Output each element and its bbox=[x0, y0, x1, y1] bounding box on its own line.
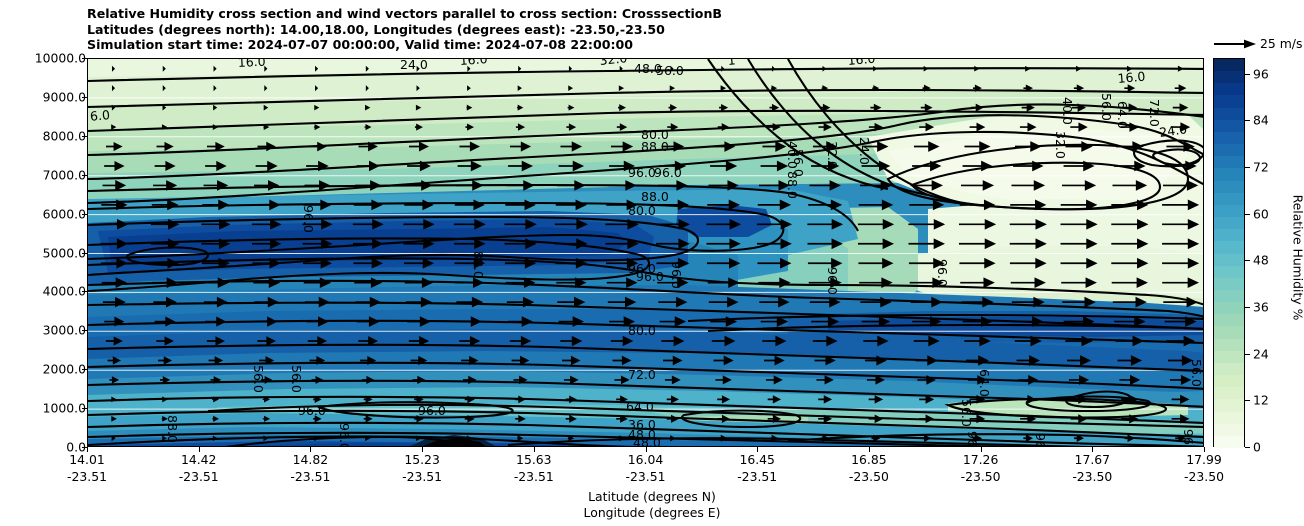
colorbar-band bbox=[1214, 436, 1244, 448]
y-axis-tick-mark bbox=[82, 408, 87, 409]
colorbar-band bbox=[1214, 144, 1244, 156]
colorbar-band bbox=[1214, 108, 1244, 120]
x-axis-tick-label-longitude: -23.51 bbox=[402, 469, 442, 484]
colorbar-tick-mark bbox=[1245, 400, 1250, 401]
colorbar-tick-mark bbox=[1245, 447, 1250, 448]
svg-text:56.0: 56.0 bbox=[1189, 359, 1204, 387]
colorbar-band bbox=[1214, 399, 1244, 411]
svg-text:96.0: 96.0 bbox=[337, 423, 352, 447]
colorbar-band bbox=[1214, 83, 1244, 95]
colorbar-band bbox=[1214, 181, 1244, 193]
svg-text:72.0: 72.0 bbox=[1147, 99, 1162, 127]
x-axis-tick-label-latitude: 17.26 bbox=[963, 452, 998, 467]
colorbar-band bbox=[1214, 229, 1244, 241]
x-axis-tick-label-longitude: -23.51 bbox=[737, 469, 777, 484]
y-axis-tick-label: 8000.0 bbox=[43, 128, 86, 143]
colorbar-band bbox=[1214, 71, 1244, 83]
svg-text:88.0: 88.0 bbox=[641, 189, 669, 204]
y-axis-tick-mark bbox=[82, 369, 87, 370]
colorbar-label: Relative Humidity % bbox=[1291, 128, 1304, 388]
colorbar-band bbox=[1214, 120, 1244, 132]
y-axis-tick-label: 4000.0 bbox=[43, 284, 86, 299]
colorbar-band bbox=[1214, 351, 1244, 363]
colorbar-tick-label: 84 bbox=[1253, 113, 1269, 128]
svg-text:80.0: 80.0 bbox=[628, 323, 656, 338]
colorbar-tick-label: 24 bbox=[1253, 346, 1269, 361]
x-axis-tick-label-latitude: 17.67 bbox=[1075, 452, 1110, 467]
chart-title-block: Relative Humidity cross section and wind… bbox=[87, 6, 1087, 53]
title-line-3: Simulation start time: 2024-07-07 00:00:… bbox=[87, 37, 1087, 53]
y-axis-tick-mark bbox=[82, 291, 87, 292]
colorbar-tick-label: 60 bbox=[1253, 206, 1269, 221]
x-axis-tick-label-longitude: -23.51 bbox=[514, 469, 554, 484]
x-axis-tick-label-longitude: -23.50 bbox=[849, 469, 889, 484]
title-line-1: Relative Humidity cross section and wind… bbox=[87, 6, 1087, 22]
y-axis-tick-label: 6000.0 bbox=[43, 206, 86, 221]
x-axis-tick-label-latitude: 16.04 bbox=[628, 452, 663, 467]
svg-text:96.0: 96.0 bbox=[418, 403, 446, 418]
colorbar-tick-mark bbox=[1245, 260, 1250, 261]
colorbar-tick-mark bbox=[1245, 214, 1250, 215]
colorbar-tick-label: 36 bbox=[1253, 299, 1269, 314]
svg-text:96.0: 96.0 bbox=[636, 269, 664, 284]
wind-key-arrow-icon bbox=[1213, 36, 1258, 52]
x-axis-tick-label-latitude: 14.01 bbox=[69, 452, 104, 467]
svg-text:96.0: 96.0 bbox=[298, 403, 326, 418]
colorbar-band bbox=[1214, 156, 1244, 168]
svg-text:56.0: 56.0 bbox=[289, 365, 304, 393]
x-axis-tick-label-latitude: 15.63 bbox=[516, 452, 551, 467]
y-axis-tick-mark bbox=[82, 58, 87, 59]
y-axis-tick-mark bbox=[82, 253, 87, 254]
colorbar-tick-label: 96 bbox=[1253, 66, 1269, 81]
x-axis-tick-label-latitude: 16.45 bbox=[739, 452, 774, 467]
colorbar-tick-mark bbox=[1245, 120, 1250, 121]
x-axis-tick-label-longitude: -23.51 bbox=[179, 469, 219, 484]
colorbar-tick-label: 48 bbox=[1253, 253, 1269, 268]
svg-text:40.0: 40.0 bbox=[1060, 97, 1075, 125]
x-axis-tick-label-latitude: 14.82 bbox=[293, 452, 328, 467]
colorbar-band bbox=[1214, 205, 1244, 217]
colorbar-band bbox=[1214, 266, 1244, 278]
svg-text:64.0: 64.0 bbox=[1115, 101, 1130, 129]
colorbar-band bbox=[1214, 95, 1244, 107]
colorbar-band bbox=[1214, 241, 1244, 253]
x-axis-tick-label-longitude: -23.51 bbox=[626, 469, 666, 484]
svg-text:96.0: 96.0 bbox=[1033, 433, 1048, 447]
title-line-2: Latitudes (degrees north): 14.00,18.00, … bbox=[87, 22, 1087, 38]
relative-humidity-field: 16.0 24.0 16.0 32.0 48.0 56.0 16.0 16.0 … bbox=[88, 59, 1204, 447]
y-axis-tick-mark bbox=[82, 330, 87, 331]
x-axis-label-longitude: Longitude (degrees E) bbox=[0, 505, 1304, 520]
svg-text:72.0: 72.0 bbox=[633, 445, 661, 447]
colorbar-band bbox=[1214, 59, 1244, 71]
colorbar-tick-mark bbox=[1245, 307, 1250, 308]
x-axis-tick-label-longitude: -23.51 bbox=[290, 469, 330, 484]
x-axis-tick-label-longitude: -23.50 bbox=[1072, 469, 1112, 484]
svg-text:96.0: 96.0 bbox=[301, 205, 316, 233]
colorbar-band bbox=[1214, 193, 1244, 205]
y-axis-tick-mark bbox=[82, 214, 87, 215]
y-axis-tick-mark bbox=[82, 97, 87, 98]
colorbar-tick-mark bbox=[1245, 167, 1250, 168]
svg-text:56.0: 56.0 bbox=[251, 365, 266, 393]
colorbar-band bbox=[1214, 424, 1244, 436]
colorbar-tick-label: 0 bbox=[1253, 440, 1261, 455]
y-axis-tick-label: 2000.0 bbox=[43, 362, 86, 377]
colorbar-band bbox=[1214, 254, 1244, 266]
svg-text:56.0: 56.0 bbox=[959, 399, 974, 427]
colorbar-band bbox=[1214, 302, 1244, 314]
svg-text:88.0: 88.0 bbox=[165, 415, 180, 443]
svg-text:24.0: 24.0 bbox=[400, 59, 428, 72]
colorbar-tick-mark bbox=[1245, 354, 1250, 355]
y-axis-tick-mark bbox=[82, 136, 87, 137]
y-axis-tick-mark bbox=[82, 175, 87, 176]
colorbar-tick-label: 72 bbox=[1253, 159, 1269, 174]
svg-text:56.0: 56.0 bbox=[1099, 93, 1114, 121]
y-axis-tick-label: 10000.0 bbox=[35, 51, 86, 66]
svg-text:32.0: 32.0 bbox=[1053, 131, 1068, 159]
x-axis-tick-label-latitude: 16.85 bbox=[851, 452, 886, 467]
colorbar-band bbox=[1214, 412, 1244, 424]
x-axis-tick-label-latitude: 14.42 bbox=[181, 452, 216, 467]
colorbar-band bbox=[1214, 314, 1244, 326]
y-axis-tick-label: 1000.0 bbox=[43, 401, 86, 416]
svg-text:16.0: 16.0 bbox=[237, 59, 266, 70]
colorbar[interactable] bbox=[1213, 58, 1245, 447]
y-axis-tick-label: 9000.0 bbox=[43, 89, 86, 104]
wind-vector-key: 25 m/s bbox=[1213, 34, 1304, 54]
colorbar-band bbox=[1214, 168, 1244, 180]
colorbar-band bbox=[1214, 375, 1244, 387]
svg-text:56.0: 56.0 bbox=[656, 63, 684, 78]
colorbar-band bbox=[1214, 339, 1244, 351]
y-axis-tick-label: 3000.0 bbox=[43, 323, 86, 338]
svg-text:40.0: 40.0 bbox=[785, 141, 800, 169]
colorbar-band bbox=[1214, 387, 1244, 399]
x-axis-tick-label-longitude: -23.51 bbox=[67, 469, 107, 484]
y-axis-tick-label: 7000.0 bbox=[43, 167, 86, 182]
colorbar-band bbox=[1214, 326, 1244, 338]
svg-text:16.0: 16.0 bbox=[1117, 69, 1146, 86]
colorbar-band bbox=[1214, 132, 1244, 144]
x-axis-tick-label-longitude: -23.50 bbox=[961, 469, 1001, 484]
colorbar-band bbox=[1214, 363, 1244, 375]
x-axis-tick-label-latitude: 17.99 bbox=[1186, 452, 1221, 467]
svg-text:64.0: 64.0 bbox=[626, 399, 654, 414]
colorbar-tick-mark bbox=[1245, 74, 1250, 75]
x-axis-label-latitude: Latitude (degrees N) bbox=[0, 489, 1304, 504]
wind-key-label: 25 m/s bbox=[1260, 36, 1302, 51]
colorbar-tick-label: 12 bbox=[1253, 393, 1269, 408]
cross-section-plot-area[interactable]: 16.0 24.0 16.0 32.0 48.0 56.0 16.0 16.0 … bbox=[87, 58, 1204, 447]
svg-text:72.0: 72.0 bbox=[628, 367, 656, 382]
colorbar-band bbox=[1214, 290, 1244, 302]
colorbar-band bbox=[1214, 278, 1244, 290]
x-axis-tick-label-latitude: 15.23 bbox=[404, 452, 439, 467]
svg-text:24.0: 24.0 bbox=[857, 137, 872, 165]
y-axis-tick-label: 5000.0 bbox=[43, 245, 86, 260]
colorbar-band bbox=[1214, 217, 1244, 229]
x-axis-tick-label-longitude: -23.50 bbox=[1184, 469, 1224, 484]
